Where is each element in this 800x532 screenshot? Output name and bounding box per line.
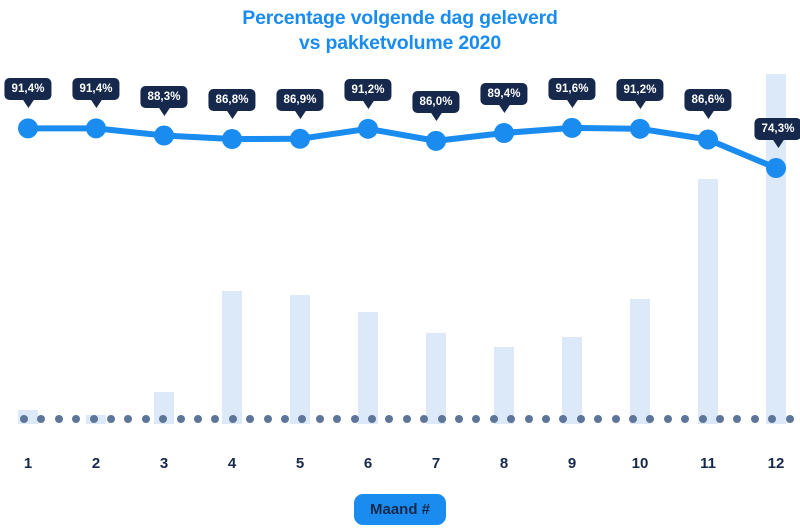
x-axis-tick-12: 12 bbox=[768, 455, 785, 472]
axis-dot bbox=[177, 415, 185, 423]
axis-dot bbox=[455, 415, 463, 423]
plot-area: 91,4%91,4%88,3%86,8%86,9%91,2%86,0%89,4%… bbox=[0, 0, 800, 450]
x-axis-tick-9: 9 bbox=[568, 455, 576, 472]
axis-dot bbox=[629, 415, 637, 423]
value-callout: 86,0% bbox=[412, 91, 459, 113]
value-callout: 86,6% bbox=[684, 89, 731, 111]
x-axis-tick-6: 6 bbox=[364, 455, 372, 472]
axis-dot bbox=[438, 415, 446, 423]
axis-dot bbox=[368, 415, 376, 423]
x-axis-tick-8: 8 bbox=[500, 455, 508, 472]
axis-dot bbox=[525, 415, 533, 423]
value-callout: 89,4% bbox=[480, 83, 527, 105]
axis-dot bbox=[55, 415, 63, 423]
line-marker[interactable] bbox=[426, 131, 446, 151]
x-axis-tick-10: 10 bbox=[632, 455, 649, 472]
value-callout: 86,9% bbox=[276, 89, 323, 111]
axis-dot bbox=[107, 415, 115, 423]
axis-dot bbox=[264, 415, 272, 423]
axis-dot bbox=[716, 415, 724, 423]
axis-dot bbox=[577, 415, 585, 423]
axis-dot bbox=[490, 415, 498, 423]
line-marker[interactable] bbox=[562, 118, 582, 138]
axis-dot bbox=[542, 415, 550, 423]
axis-dot bbox=[90, 415, 98, 423]
axis-dot bbox=[699, 415, 707, 423]
chart-page: Percentage volgende dag geleverd vs pakk… bbox=[0, 0, 800, 532]
line-marker[interactable] bbox=[18, 118, 38, 138]
line-marker[interactable] bbox=[630, 119, 650, 139]
axis-dot bbox=[786, 415, 794, 423]
value-callout: 86,8% bbox=[208, 89, 255, 111]
x-axis-title-container: Maand # bbox=[0, 494, 800, 525]
axis-dot bbox=[751, 415, 759, 423]
axis-dot bbox=[194, 415, 202, 423]
line-marker[interactable] bbox=[86, 118, 106, 138]
value-callout: 91,6% bbox=[548, 78, 595, 100]
x-axis-tick-11: 11 bbox=[700, 455, 716, 472]
axis-dot bbox=[316, 415, 324, 423]
x-axis-tick-1: 1 bbox=[24, 455, 32, 472]
value-callout: 91,2% bbox=[616, 79, 663, 101]
axis-dot bbox=[281, 415, 289, 423]
x-axis-title-button[interactable]: Maand # bbox=[354, 494, 446, 525]
axis-dot bbox=[229, 415, 237, 423]
value-callout: 74,3% bbox=[754, 118, 800, 140]
line-marker[interactable] bbox=[222, 129, 242, 149]
x-axis-tick-2: 2 bbox=[92, 455, 100, 472]
value-callout: 91,4% bbox=[72, 78, 119, 100]
value-callout: 88,3% bbox=[140, 86, 187, 108]
line-marker[interactable] bbox=[290, 129, 310, 149]
axis-dot bbox=[142, 415, 150, 423]
x-axis-tick-7: 7 bbox=[432, 455, 440, 472]
axis-dot bbox=[403, 415, 411, 423]
value-callout: 91,4% bbox=[4, 78, 51, 100]
line-marker[interactable] bbox=[494, 123, 514, 143]
line-series-svg bbox=[0, 0, 800, 450]
value-callout: 91,2% bbox=[344, 79, 391, 101]
axis-dot bbox=[20, 415, 28, 423]
axis-dot bbox=[351, 415, 359, 423]
line-marker[interactable] bbox=[698, 129, 718, 149]
line-marker[interactable] bbox=[766, 158, 786, 178]
axis-dot bbox=[664, 415, 672, 423]
line-marker[interactable] bbox=[154, 126, 174, 146]
x-axis-tick-5: 5 bbox=[296, 455, 304, 472]
axis-dot bbox=[612, 415, 620, 423]
percentage-line bbox=[28, 128, 776, 168]
line-marker[interactable] bbox=[358, 119, 378, 139]
x-axis-tick-4: 4 bbox=[228, 455, 236, 472]
x-axis-tick-3: 3 bbox=[160, 455, 168, 472]
